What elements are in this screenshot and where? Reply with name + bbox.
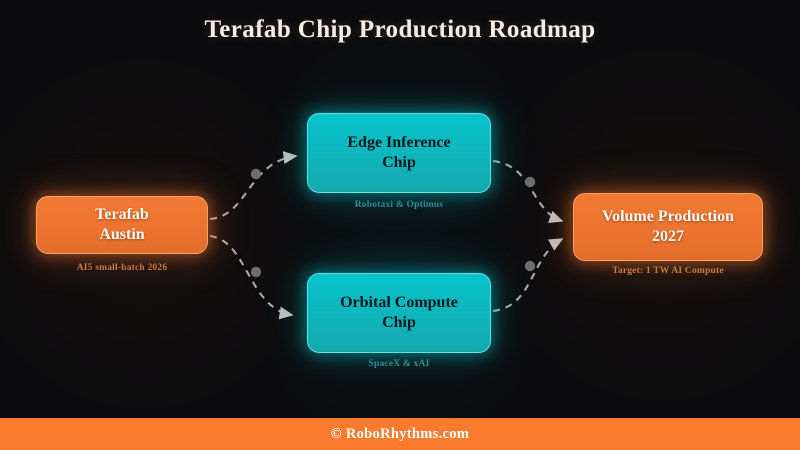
- node-orbital-compute-chip-label: Orbital Compute Chip: [330, 293, 468, 332]
- node-edge-inference-chip-caption: Robotaxi & Optimus: [307, 200, 491, 210]
- node-volume-production-caption: Target: 1 TW AI Compute: [573, 266, 763, 276]
- roadmap-diagram-canvas: Terafab Chip Production Roadmap Terafab …: [0, 0, 800, 450]
- edge-dot-lower-left: [251, 267, 261, 277]
- edge-dot-upper-left: [251, 169, 261, 179]
- node-edge-inference-chip[interactable]: Edge Inference Chip: [307, 113, 491, 193]
- edge-dot-upper-right: [525, 177, 535, 187]
- edge-orbital-chip-to-volume: [493, 239, 562, 311]
- edge-terafab-to-edge-chip: [210, 156, 296, 219]
- title-underline-rule: [150, 49, 652, 51]
- edge-terafab-to-orbital-chip: [210, 236, 292, 315]
- node-orbital-compute-chip[interactable]: Orbital Compute Chip: [307, 273, 491, 353]
- node-orbital-compute-chip-caption: SpaceX & xAI: [307, 359, 491, 369]
- footer-credit-text: © RoboRhythms.com: [331, 426, 469, 443]
- page-title-container: Terafab Chip Production Roadmap: [0, 16, 800, 44]
- node-edge-inference-chip-label: Edge Inference Chip: [337, 133, 460, 172]
- page-title: Terafab Chip Production Roadmap: [205, 16, 596, 43]
- node-terafab-austin[interactable]: Terafab Austin: [36, 196, 208, 254]
- edge-dot-lower-right: [525, 261, 535, 271]
- node-terafab-austin-label: Terafab Austin: [85, 205, 159, 244]
- node-terafab-austin-caption: AI5 small-batch 2026: [36, 263, 208, 273]
- node-volume-production[interactable]: Volume Production 2027: [573, 193, 763, 261]
- footer-bar: © RoboRhythms.com: [0, 418, 800, 450]
- node-volume-production-label: Volume Production 2027: [592, 207, 744, 246]
- edge-edge-chip-to-volume: [493, 161, 562, 221]
